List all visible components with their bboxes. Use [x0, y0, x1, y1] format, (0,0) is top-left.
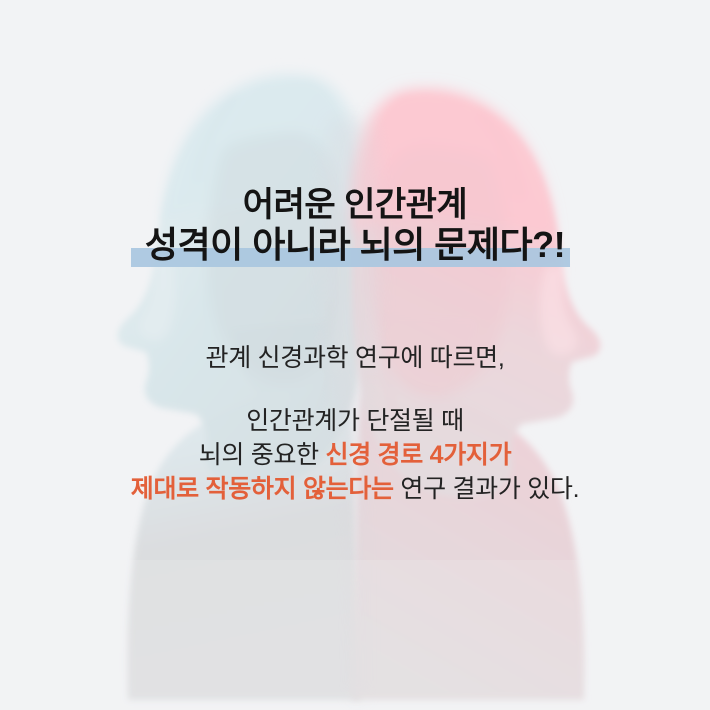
body-line-1: 관계 신경과학 연구에 따르면, — [0, 343, 710, 373]
body-line-4: 제대로 작동하지 않는다는 연구 결과가 있다. — [0, 474, 710, 504]
title-line-1: 어려운 인간관계 — [0, 186, 710, 224]
title-line-2: 성격이 아니라 뇌의 문제다?! — [0, 224, 710, 266]
body-line-3-plain: 뇌의 중요한 — [199, 441, 326, 469]
promo-card: 어려운 인간관계 성격이 아니라 뇌의 문제다?! 관계 신경과학 연구에 따르… — [0, 0, 710, 710]
body-line-2: 인간관계가 단절될 때 — [0, 406, 710, 436]
title-line-2-wrapper: 성격이 아니라 뇌의 문제다?! — [0, 224, 710, 270]
body-line-3: 뇌의 중요한 신경 경로 4가지가 — [0, 440, 710, 470]
body-line-3-accent: 신경 경로 4가지가 — [326, 441, 512, 469]
text-layer: 어려운 인간관계 성격이 아니라 뇌의 문제다?! 관계 신경과학 연구에 따르… — [0, 0, 710, 710]
body-line-4-plain: 연구 결과가 있다. — [394, 475, 579, 503]
body-line-4-accent: 제대로 작동하지 않는다는 — [131, 475, 394, 503]
